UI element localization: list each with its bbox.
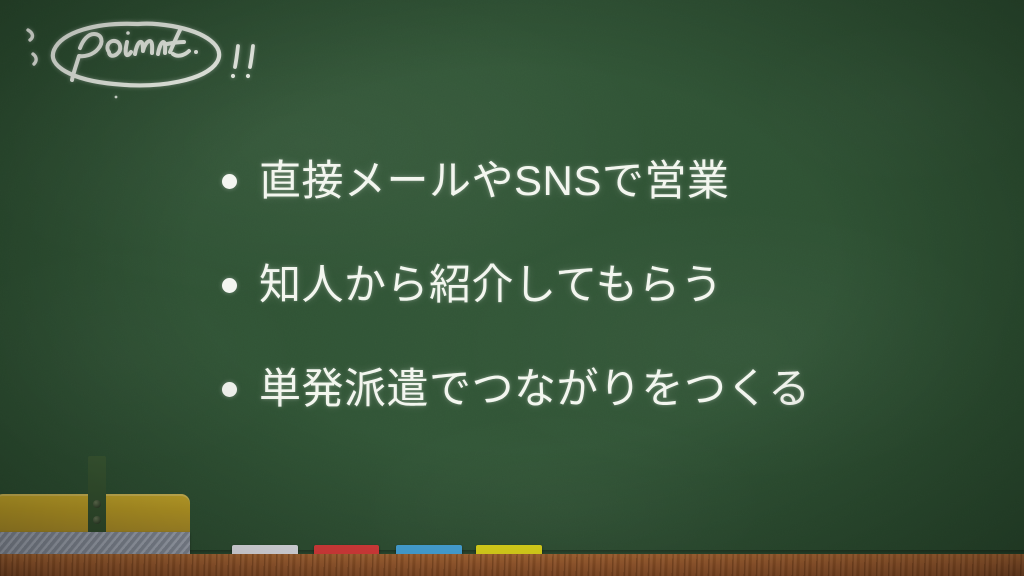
list-item: 知人から紹介してもらう: [222, 250, 982, 320]
eraser-rivet: [93, 516, 101, 524]
point-chalk-annotation: [10, 4, 280, 104]
chalk-tick-marks: [28, 30, 36, 64]
bullet-text: 単発派遣でつながりをつくる: [259, 366, 811, 412]
exclamation-marks: [235, 46, 253, 67]
eraser-strap: [88, 456, 106, 532]
bullet-dot-icon: [222, 382, 237, 397]
bullet-list: 直接メールやSNSで営業 知人から紹介してもらう 単発派遣でつながりをつくる: [222, 146, 982, 424]
blackboard-eraser: [0, 494, 190, 554]
chalkboard-slide: 直接メールやSNSで営業 知人から紹介してもらう 単発派遣でつながりをつくる: [0, 0, 1024, 576]
point-word-script: [72, 30, 198, 80]
bullet-text: 直接メールやSNSで営業: [259, 158, 729, 204]
bullet-dot-icon: [222, 174, 237, 189]
eraser-felt: [0, 532, 190, 554]
eraser-rivet: [93, 500, 101, 508]
wooden-chalk-ledge: [0, 554, 1024, 576]
list-item: 直接メールやSNSで営業: [222, 146, 982, 216]
bullet-dot-icon: [222, 278, 237, 293]
list-item: 単発派遣でつながりをつくる: [222, 354, 982, 424]
bullet-text: 知人から紹介してもらう: [259, 262, 723, 308]
